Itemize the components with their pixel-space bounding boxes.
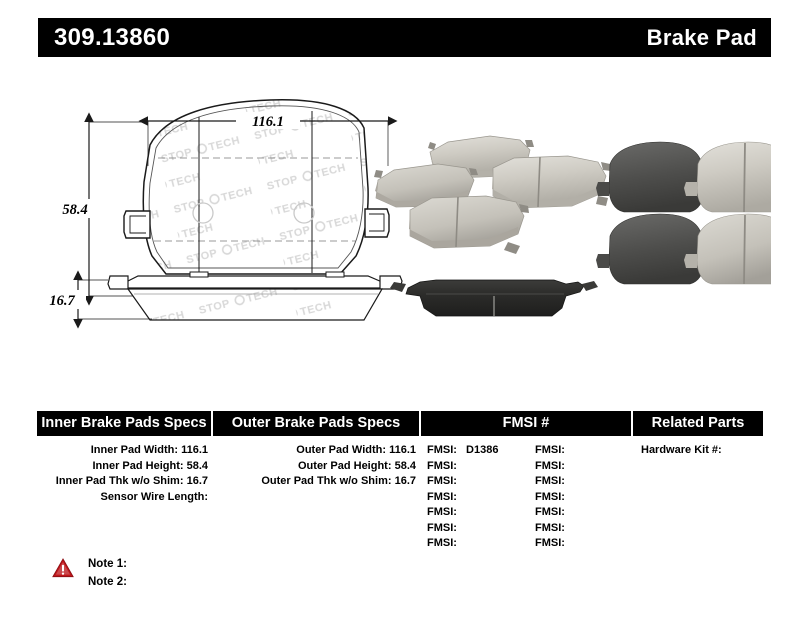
spec-value: 16.7 <box>395 475 416 487</box>
fmsi-row: FMSI: <box>427 474 535 490</box>
spec-label: Inner Pad Width: <box>91 444 178 456</box>
fmsi-subcolumn-right: FMSI: FMSI: FMSI: FMSI: FMSI: <box>535 443 631 552</box>
fmsi-label: FMSI: <box>427 522 457 534</box>
fmsi-label: FMSI: <box>427 537 457 549</box>
drawing-area: STOP TECH STOP TECH <box>38 70 771 390</box>
specs-table: Inner Brake Pads Specs Inner Pad Width: … <box>37 411 763 541</box>
fmsi-value <box>457 460 463 472</box>
column-header-inner: Inner Brake Pads Specs <box>37 411 211 436</box>
fmsi-row: FMSI: <box>535 443 631 459</box>
spec-row: Outer Pad Height: 58.4 <box>213 459 419 475</box>
column-body-outer: Outer Pad Width: 116.1 Outer Pad Height:… <box>213 436 419 490</box>
photo-pad-3 <box>492 156 611 208</box>
spec-row: Inner Pad Height: 58.4 <box>37 459 211 475</box>
photo-pad-edge <box>390 280 598 316</box>
fmsi-value <box>565 460 571 472</box>
fmsi-value <box>457 537 463 549</box>
fmsi-value: D1386 <box>460 444 498 456</box>
related-part-row: Hardware Kit #: <box>641 443 763 459</box>
column-body-related-parts: Hardware Kit #: <box>633 436 763 459</box>
side-backing-plate <box>126 276 382 288</box>
fmsi-label: FMSI: <box>427 506 457 518</box>
specs-column-outer: Outer Brake Pads Specs Outer Pad Width: … <box>213 411 419 541</box>
note-line-1: Note 1: <box>88 555 127 573</box>
fmsi-label: FMSI: <box>535 522 565 534</box>
related-part-value <box>722 444 728 456</box>
spec-value: 16.7 <box>187 475 208 487</box>
fmsi-label: FMSI: <box>535 537 565 549</box>
fmsi-row: FMSI: <box>535 521 631 537</box>
spec-row: Inner Pad Width: 116.1 <box>37 443 211 459</box>
spec-label: Inner Pad Height: <box>92 460 183 472</box>
fmsi-row: FMSI: <box>427 536 535 552</box>
spec-label: Outer Pad Height: <box>298 460 392 472</box>
fmsi-value <box>565 537 571 549</box>
fmsi-subcolumn-left: FMSI: D1386 FMSI: FMSI: FMSI: FMSI: <box>427 443 535 552</box>
fmsi-row: FMSI: <box>427 490 535 506</box>
column-header-outer: Outer Brake Pads Specs <box>213 411 419 436</box>
fmsi-row: FMSI: D1386 <box>427 443 535 459</box>
fmsi-label: FMSI: <box>535 460 565 472</box>
notes-text: Note 1: Note 2: <box>88 555 127 591</box>
dim-height-label: 58.4 <box>62 202 87 218</box>
warning-triangle-icon <box>52 557 74 579</box>
spec-label: Outer Pad Thk w/o Shim: <box>261 475 391 487</box>
dim-thickness-label: 16.7 <box>49 293 75 309</box>
header-bar: 309.13860 Brake Pad <box>38 18 771 57</box>
column-header-related-parts: Related Parts <box>633 411 763 436</box>
column-body-inner: Inner Pad Width: 116.1 Inner Pad Height:… <box>37 436 211 505</box>
notes-section: Note 1: Note 2: <box>52 555 127 591</box>
specs-column-related-parts: Related Parts Hardware Kit #: <box>633 411 763 541</box>
spec-label: Inner Pad Thk w/o Shim: <box>56 475 184 487</box>
fmsi-value <box>457 491 463 503</box>
fmsi-label: FMSI: <box>535 506 565 518</box>
fmsi-label: FMSI: <box>427 491 457 503</box>
part-type-label: Brake Pad <box>647 27 757 49</box>
photo-pad-set-angled <box>374 136 611 254</box>
fmsi-label: FMSI: <box>535 444 565 456</box>
fmsi-value <box>565 444 571 456</box>
photo-edge-ear-right <box>582 281 598 291</box>
specs-column-inner: Inner Brake Pads Specs Inner Pad Width: … <box>37 411 211 541</box>
fmsi-row: FMSI: <box>535 505 631 521</box>
fmsi-grid: FMSI: D1386 FMSI: FMSI: FMSI: FMSI: <box>421 436 631 552</box>
side-clip-left <box>190 272 208 277</box>
fmsi-value <box>565 475 571 487</box>
column-header-fmsi: FMSI # <box>421 411 631 436</box>
spec-row: Outer Pad Width: 116.1 <box>213 443 419 459</box>
spec-value: 58.4 <box>187 460 208 472</box>
spec-value: 116.1 <box>389 444 416 456</box>
side-ear-left <box>108 276 128 289</box>
spec-label: Sensor Wire Length: <box>101 491 208 503</box>
fmsi-value <box>457 522 463 534</box>
fmsi-label: FMSI: <box>427 444 457 456</box>
spec-value: 58.4 <box>395 460 416 472</box>
fmsi-value <box>565 506 571 518</box>
spec-row: Inner Pad Thk w/o Shim: 16.7 <box>37 474 211 490</box>
spec-label: Outer Pad Width: <box>296 444 386 456</box>
note-line-2: Note 2: <box>88 573 127 591</box>
related-part-label: Hardware Kit #: <box>641 444 722 456</box>
dim-width-label: 116.1 <box>252 114 284 130</box>
fmsi-value <box>565 522 571 534</box>
fmsi-row: FMSI: <box>427 459 535 475</box>
fmsi-row: FMSI: <box>427 521 535 537</box>
specs-column-fmsi: FMSI # FMSI: D1386 FMSI: FMSI: FMSI: <box>421 411 631 541</box>
fmsi-row: FMSI: <box>535 474 631 490</box>
photo-pad-set-flat <box>596 142 771 284</box>
side-clip-right <box>326 272 344 277</box>
fmsi-label: FMSI: <box>535 491 565 503</box>
photo-pad-4 <box>409 196 529 254</box>
spec-value: 116.1 <box>181 444 208 456</box>
pad-ear-left <box>124 211 150 238</box>
pad-ear-right <box>365 209 389 237</box>
front-outline-view: 116.1 58.4 <box>48 100 389 296</box>
fmsi-value <box>565 491 571 503</box>
photo-edge-body <box>406 280 584 316</box>
fmsi-label: FMSI: <box>427 460 457 472</box>
fmsi-label: FMSI: <box>427 475 457 487</box>
spec-row: Outer Pad Thk w/o Shim: 16.7 <box>213 474 419 490</box>
part-number: 309.13860 <box>54 26 170 50</box>
fmsi-value <box>457 475 463 487</box>
fmsi-value <box>457 506 463 518</box>
technical-drawing-svg: STOP TECH STOP TECH <box>38 70 771 390</box>
spec-row: Sensor Wire Length: <box>37 490 211 506</box>
fmsi-row: FMSI: <box>535 490 631 506</box>
fmsi-row: FMSI: <box>535 459 631 475</box>
fmsi-row: FMSI: <box>427 505 535 521</box>
fmsi-row: FMSI: <box>535 536 631 552</box>
fmsi-label: FMSI: <box>535 475 565 487</box>
